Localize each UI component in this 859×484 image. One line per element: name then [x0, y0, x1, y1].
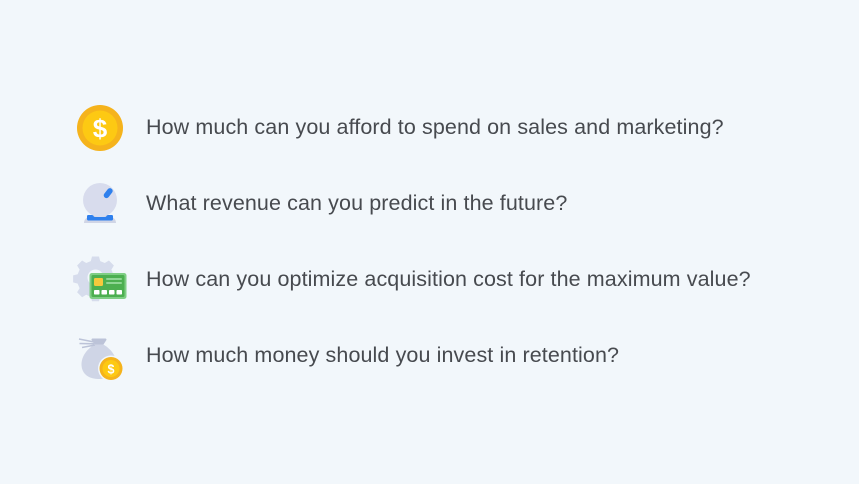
gear-credit-card-icon — [62, 249, 138, 311]
list-item-label: How much money should you invest in rete… — [138, 343, 619, 369]
list-item[interactable]: $ How much can you afford to spend on sa… — [62, 90, 822, 166]
svg-text:$: $ — [93, 114, 108, 144]
slide-canvas: $ How much can you afford to spend on sa… — [0, 0, 859, 484]
credit-card-icon — [90, 273, 127, 299]
list-item-label: How can you optimize acquisition cost fo… — [138, 267, 751, 293]
money-bag-coin-icon: $ — [62, 325, 138, 387]
svg-text:$: $ — [108, 363, 115, 377]
gold-coin-dollar-icon: $ — [62, 97, 138, 159]
coin-icon: $ — [98, 356, 124, 382]
list-item[interactable]: $ How much money should you invest in re… — [62, 318, 822, 394]
list-item[interactable]: What revenue can you predict in the futu… — [62, 166, 822, 242]
list-item[interactable]: How can you optimize acquisition cost fo… — [62, 242, 822, 318]
crystal-ball-icon — [62, 173, 138, 235]
question-list: $ How much can you afford to spend on sa… — [62, 90, 822, 394]
list-item-label: How much can you afford to spend on sale… — [138, 115, 724, 141]
list-item-label: What revenue can you predict in the futu… — [138, 191, 567, 217]
